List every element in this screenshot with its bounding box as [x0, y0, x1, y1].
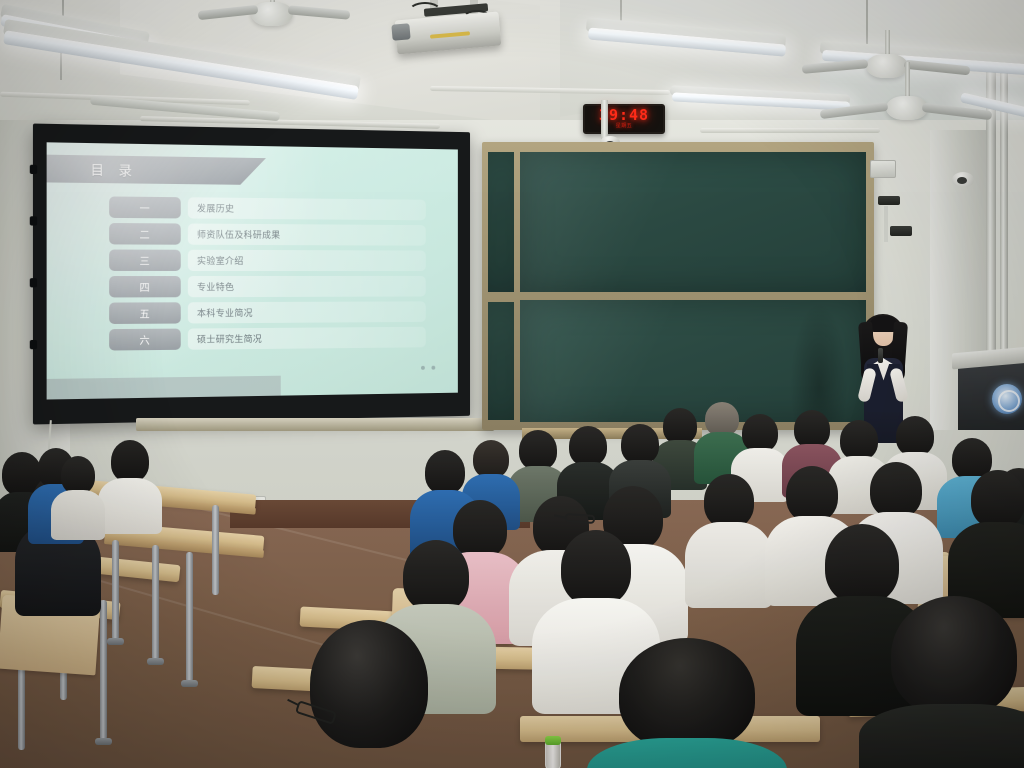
student-head [870, 462, 922, 518]
toc-bar: 硕士研究生简况 [188, 327, 426, 350]
wall-camera-icon [878, 196, 900, 205]
screen-clip [30, 340, 37, 349]
student-head [794, 410, 830, 448]
slide-toc-list: 一 发展历史 二 师资队伍及科研成果 三 实验室介绍 [109, 196, 426, 355]
student-head [891, 596, 1017, 716]
toc-label: 硕士研究生简况 [197, 332, 262, 346]
student-head [742, 414, 778, 452]
dome-camera-icon [952, 172, 974, 187]
toc-label: 本科专业简况 [197, 306, 253, 319]
camera-arm [884, 206, 888, 242]
desk-leg [186, 552, 193, 682]
university-emblem-icon [992, 384, 1022, 414]
toc-label: 实验室介绍 [197, 254, 244, 267]
student-head [705, 402, 739, 436]
blackboard-panel-main-lower [520, 300, 866, 422]
student-head [403, 540, 469, 612]
wall-camera-icon [890, 226, 912, 236]
slide-corner-marks [421, 366, 435, 370]
slide-dot [421, 366, 425, 370]
toc-number: 一 [109, 196, 181, 218]
toc-number: 六 [109, 329, 181, 351]
student-head [310, 620, 428, 748]
lecture-hall-photo: 39:48 星期五 目 录 一 发展历史 二 [0, 0, 1024, 768]
slide-title: 目 录 [90, 159, 137, 179]
toc-bar: 专业特色 [188, 276, 426, 297]
student [58, 456, 98, 518]
toc-row: 五 本科专业简况 [109, 301, 426, 324]
student-torso [98, 478, 162, 534]
toc-bar: 实验室介绍 [188, 250, 426, 271]
student-foreground [304, 620, 434, 768]
student-foreground [884, 596, 1024, 768]
toc-number: 五 [109, 302, 181, 324]
student [790, 410, 834, 472]
student-head [519, 430, 557, 470]
blackboard-panel-left-lower [488, 302, 514, 420]
screen-clip [30, 165, 37, 174]
student [700, 474, 758, 580]
student [566, 426, 610, 490]
student-torso [859, 704, 1024, 768]
toc-label: 发展历史 [197, 201, 234, 214]
desk-leg [100, 600, 107, 740]
screen-clip [30, 216, 37, 225]
student [470, 440, 512, 502]
desk-leg-foot [181, 680, 198, 687]
desk-leg-foot [147, 658, 164, 665]
presenter-shadow [790, 302, 848, 422]
projector-lens [391, 23, 410, 41]
toc-bar: 师资队伍及科研成果 [188, 224, 426, 246]
screen-bottom-bar [136, 418, 494, 431]
blackboard [482, 142, 874, 430]
student [966, 470, 1024, 590]
student [516, 430, 560, 494]
student-head [473, 440, 509, 478]
student-head [425, 450, 465, 494]
student [108, 440, 152, 516]
toc-label: 专业特色 [197, 280, 234, 293]
desk-leg-foot [107, 638, 124, 645]
student-head [704, 474, 754, 528]
ceiling-conduit [700, 128, 880, 133]
student-head [561, 530, 631, 606]
fan-motor [251, 2, 293, 26]
slide-header-banner: 目 录 [47, 155, 266, 185]
toc-row: 二 师资队伍及科研成果 [109, 223, 426, 246]
student-foreground [612, 638, 762, 768]
student-head [786, 466, 838, 522]
desk-leg-foot [95, 738, 112, 745]
desk-leg [212, 505, 219, 595]
ceiling-fan [862, 62, 952, 122]
toc-label: 师资队伍及科研成果 [197, 228, 281, 241]
student-head [619, 638, 755, 750]
toc-row: 三 实验室介绍 [109, 250, 426, 272]
slide-footer-bar [47, 376, 281, 400]
toc-row: 六 硕士研究生简况 [109, 327, 426, 351]
toc-bar: 本科专业简况 [188, 301, 426, 323]
student-head [663, 408, 697, 444]
lectern[interactable] [958, 360, 1024, 430]
student [618, 424, 662, 488]
toc-row: 四 专业特色 [109, 276, 426, 298]
desk-leg [152, 545, 159, 660]
ceiling-fan [232, 0, 312, 30]
desk-leg [112, 540, 119, 640]
toc-row: 一 发展历史 [109, 196, 426, 220]
projection-screen: 目 录 一 发展历史 二 师资队伍及科研成果 三 [33, 124, 470, 425]
student-head [61, 456, 95, 494]
fan-rod [885, 30, 890, 56]
student-head [825, 524, 899, 604]
screen-clip [30, 278, 37, 287]
fan-rod [905, 62, 910, 98]
toc-bar: 发展历史 [188, 197, 426, 220]
student-head [111, 440, 149, 482]
clock-sublabel: 星期五 [616, 123, 633, 130]
student-head [840, 420, 878, 460]
microphone-icon [878, 348, 883, 363]
student-head [569, 426, 607, 466]
toc-number: 二 [109, 223, 181, 245]
student-torso [587, 738, 787, 768]
slide-dot [431, 366, 435, 370]
student-head [896, 416, 934, 456]
student-torso [685, 522, 773, 608]
wall-speaker [870, 160, 896, 178]
blackboard-panel-left-upper [488, 152, 514, 292]
toc-number: 四 [109, 276, 181, 297]
student-head [621, 424, 659, 464]
student-head [971, 470, 1024, 528]
digital-wall-clock: 39:48 星期五 [583, 104, 665, 134]
student [738, 414, 782, 476]
blackboard-panel-main-upper [520, 152, 866, 292]
presentation-slide: 目 录 一 发展历史 二 师资队伍及科研成果 三 [47, 142, 458, 399]
toc-number: 三 [109, 250, 181, 271]
blackboard-sheen [520, 152, 866, 292]
bottle-cap [545, 736, 561, 745]
student-torso [51, 490, 105, 540]
